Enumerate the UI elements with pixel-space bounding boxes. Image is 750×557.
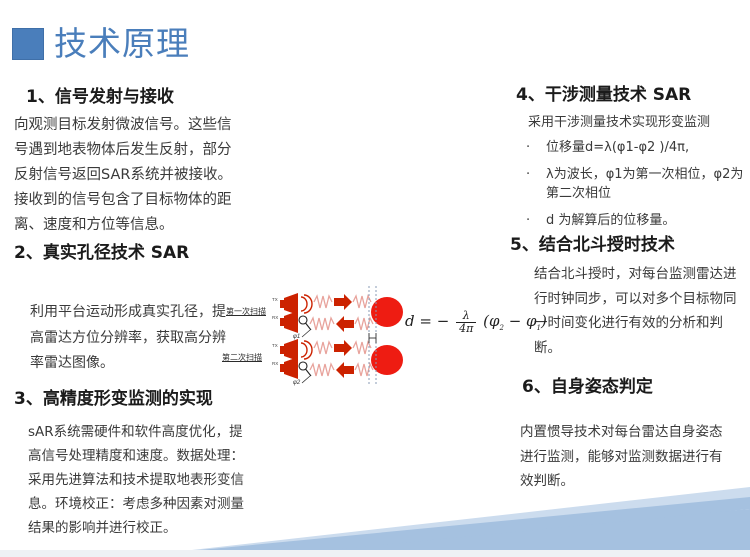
return-wave-2b <box>355 364 373 376</box>
bullet-dot-icon: · <box>522 211 546 230</box>
list-item-label: d 为解算后的位移量。 <box>546 211 750 230</box>
bottom-rule <box>0 550 750 557</box>
page-title: 技术原理 <box>54 27 190 60</box>
section-4-bullet-list: · 位移量d=λ(φ1-φ2 )/4π, · λ为波长，φ1为第一次相位，φ2为… <box>522 138 750 238</box>
phase2-label: φ2 <box>293 380 300 386</box>
section-5-body: 结合北斗授时，对每台监测雷达进行时钟同步，可以对多个目标物同一时间变化进行有效的… <box>534 262 739 360</box>
ribbon-dark-slope <box>200 497 750 550</box>
scan1-label: 第一次扫描 <box>226 306 266 317</box>
section-1-body: 向观测目标发射微波信号。这些信号遇到地表物体后发生反射，部分反射信号返回SAR系… <box>14 113 242 238</box>
formula-rhs-close: ) <box>541 312 547 330</box>
formula-rhs-open: (φ <box>483 312 499 330</box>
section-2-heading: 2、真实孔径技术 SAR <box>14 238 189 263</box>
rx-horn-icon-2 <box>280 357 311 379</box>
return-wave-2 <box>310 364 334 376</box>
section-6-heading: 6、自身姿态判定 <box>522 372 653 397</box>
section-2: 2、真实孔径技术 SAR <box>14 238 189 263</box>
list-item: · d 为解算后的位移量。 <box>522 211 750 230</box>
section-3-body: sAR系统需硬件和软件高度优化，提高信号处理精度和速度。数据处理：采用先进算法和… <box>28 420 253 540</box>
list-item: · 位移量d=λ(φ1-φ2 )/4π, <box>522 138 750 157</box>
section-4-lead: 采用干涉测量技术实现形变监测 <box>528 113 750 133</box>
slide-canvas: 技术原理 1、信号发射与接收 向观测目标发射微波信号。这些信号遇到地表物体后发生… <box>0 0 750 557</box>
tx-horn-icon-2 <box>280 339 312 361</box>
phase2-leader <box>302 376 310 383</box>
tx-tag-2: TX <box>272 343 278 348</box>
section-2-body: 利用平台运动形成真实孔径，提高雷达方位分辨率，获取高分辨率雷达图像。 <box>30 300 230 377</box>
section-5: 5、结合北斗授时技术 <box>510 230 675 255</box>
section-3: 3、高精度形变监测的实现 <box>14 384 213 409</box>
section-5-heading: 5、结合北斗授时技术 <box>510 230 675 255</box>
outgoing-wave-2b <box>353 342 371 354</box>
section-6: 6、自身姿态判定 <box>522 372 653 397</box>
section-4-heading: 4、干涉测量技术 SAR <box>516 80 691 105</box>
section-6-body: 内置惯导技术对每台雷达自身姿态进行监测，能够对监测数据进行有效判断。 <box>520 420 725 494</box>
section-4: 4、干涉测量技术 SAR <box>516 80 691 105</box>
list-item-label: λ为波长，φ1为第一次相位，φ2为第二次相位 <box>546 165 750 203</box>
displacement-marker <box>369 333 376 343</box>
ribbon-dark <box>240 509 750 550</box>
list-item-label: 位移量d=λ(φ1-φ2 )/4π, <box>546 138 750 157</box>
return-arrow-1 <box>336 316 354 332</box>
title-accent-square <box>12 28 44 60</box>
outgoing-wave-1 <box>314 296 332 308</box>
outgoing-arrow-2 <box>334 340 352 356</box>
section-1: 1、信号发射与接收 <box>26 82 174 107</box>
radar-diagram-graphic <box>222 286 422 386</box>
return-wave-1b <box>355 318 373 330</box>
formula-equals: = − <box>419 312 449 330</box>
tx-horn-icon-1 <box>280 293 312 315</box>
rx-tag-2: RX <box>272 361 278 366</box>
phase1-leader <box>302 330 310 337</box>
section-1-heading: 1、信号发射与接收 <box>26 82 174 107</box>
scan2-label: 第二次扫描 <box>222 352 262 363</box>
rx-horn-icon-1 <box>280 311 311 333</box>
outgoing-wave-1b <box>353 296 371 308</box>
slide-title-block: 技术原理 <box>12 27 190 60</box>
section-3-heading: 3、高精度形变监测的实现 <box>14 384 213 409</box>
return-wave-1 <box>310 318 334 330</box>
outgoing-arrow-1 <box>334 294 352 310</box>
displacement-formula: d = − λ 4π (φ2 − φ1) <box>405 310 547 334</box>
formula-numerator: λ <box>456 310 476 323</box>
outgoing-wave-2 <box>314 342 332 354</box>
list-item: · λ为波长，φ1为第一次相位，φ2为第二次相位 <box>522 165 750 203</box>
tx-tag-1: TX <box>272 297 278 302</box>
phase1-label: φ1 <box>293 334 300 340</box>
formula-lhs: d <box>405 312 415 330</box>
return-arrow-2 <box>336 362 354 378</box>
bullet-dot-icon: · <box>522 138 546 157</box>
formula-fraction: λ 4π <box>456 310 476 334</box>
radar-scan-diagram: 第一次扫描 第二次扫描 <box>222 286 422 386</box>
rx-tag-1: RX <box>272 315 278 320</box>
bullet-dot-icon: · <box>522 165 546 203</box>
formula-denominator: 4π <box>456 323 476 335</box>
formula-rhs-minus: − φ <box>504 312 537 330</box>
